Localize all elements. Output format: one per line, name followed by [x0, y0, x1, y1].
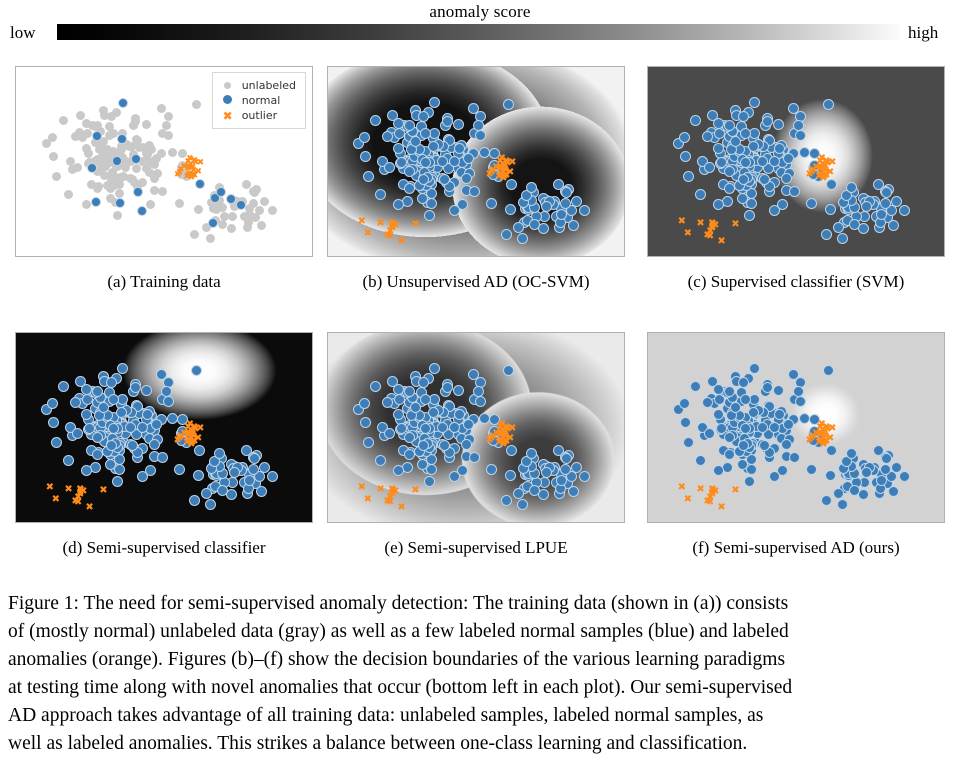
data-point: [713, 465, 724, 476]
data-point: [505, 470, 516, 481]
novel-anomaly-marker: ✖: [731, 220, 739, 230]
data-point: [722, 196, 733, 207]
outlier-marker: ✖: [186, 155, 194, 164]
unlabeled-point: [131, 117, 140, 126]
data-point: [795, 396, 806, 407]
novel-anomaly-marker: ✖: [678, 483, 686, 493]
data-point: [137, 422, 148, 433]
novel-anomaly-marker: ✖: [64, 485, 72, 495]
data-point: [789, 452, 800, 463]
unlabeled-point: [64, 190, 73, 199]
panel-e-caption: (e) Semi-supervised LPUE: [327, 538, 625, 558]
legend-label-normal: normal: [242, 94, 281, 107]
novel-anomaly-marker: ✖: [376, 219, 384, 229]
data-point: [426, 464, 437, 475]
normal-point: [133, 187, 143, 197]
data-point: [117, 363, 128, 374]
unlabeled-point: [220, 212, 229, 221]
data-point: [428, 407, 439, 418]
novel-anomaly-marker: ✖: [77, 486, 85, 496]
novel-anomaly-marker: ✖: [411, 220, 419, 230]
data-point: [738, 111, 749, 122]
data-point: [541, 201, 552, 212]
novel-anomaly-marker: ✖: [85, 503, 93, 513]
data-point: [469, 186, 480, 197]
data-point: [461, 439, 472, 450]
data-point: [783, 419, 794, 430]
unlabeled-point: [164, 112, 173, 121]
novel-anomaly-marker: ✖: [358, 217, 366, 227]
unlabeled-point: [115, 189, 124, 198]
legend-item-outlier: ✖ outlier: [220, 108, 296, 123]
data-point: [410, 402, 421, 413]
data-point: [769, 156, 780, 167]
data-point: [449, 471, 460, 482]
unlabeled-point: [52, 172, 61, 181]
data-point: [846, 448, 857, 459]
data-point: [426, 198, 437, 209]
data-point: [449, 422, 460, 433]
data-point: [716, 423, 727, 434]
data-point: [517, 233, 528, 244]
data-point: [193, 470, 204, 481]
legend-item-unlabeled: unlabeled: [220, 78, 296, 93]
unlabeled-point: [162, 121, 171, 130]
data-point: [757, 422, 768, 433]
data-point: [424, 476, 435, 487]
data-point: [106, 377, 117, 388]
data-point: [579, 471, 590, 482]
data-point: [404, 432, 415, 443]
novel-anomaly-marker: ✖: [684, 495, 692, 505]
data-point: [773, 119, 784, 130]
data-point: [695, 189, 706, 200]
unlabeled-point: [158, 187, 167, 196]
unlabeled-point: [175, 199, 184, 208]
panel-b-unsupervised-ad: ✖✖✖✖✖✖✖✖✖✖✖✖✖✖✖✖✖✖✖✖✖✖✖✖✖✖✖✖✖✖✖✖✖✖: [327, 66, 625, 257]
data-point: [370, 115, 381, 126]
data-point: [393, 199, 404, 210]
data-point: [837, 233, 848, 244]
legend-label-unlabeled: unlabeled: [242, 79, 296, 92]
data-point: [463, 153, 474, 164]
novel-anomaly-marker: ✖: [709, 220, 717, 230]
normal-point: [117, 134, 127, 144]
data-point: [746, 464, 757, 475]
data-point: [486, 464, 497, 475]
data-point: [568, 486, 579, 497]
unlabeled-point: [190, 230, 199, 239]
outlier-marker: ✖: [498, 420, 506, 430]
data-point: [724, 449, 735, 460]
normal-point: [137, 206, 147, 216]
data-point: [90, 462, 101, 473]
data-point: [806, 198, 817, 209]
outlier-marker: ✖: [818, 154, 826, 164]
data-point: [861, 201, 872, 212]
data-point: [880, 464, 891, 475]
novel-anomaly-marker: ✖: [386, 498, 394, 508]
data-point: [561, 453, 572, 464]
novel-anomaly-marker: ✖: [678, 217, 686, 227]
data-point: [360, 151, 371, 162]
data-point: [846, 182, 857, 193]
data-point: [746, 198, 757, 209]
data-point: [375, 455, 386, 466]
data-point: [799, 413, 810, 424]
unlabeled-point: [113, 211, 122, 220]
data-point: [744, 210, 755, 221]
data-point: [98, 402, 109, 413]
data-point: [384, 162, 395, 173]
data-point: [125, 422, 136, 433]
data-point: [475, 130, 486, 141]
data-point: [375, 189, 386, 200]
data-point: [453, 385, 464, 396]
panel-a-training-data: ✖✖✖✖✖✖✖✖✖✖✖✖✖✖✖✖✖✖✖✖✖ unlabeled normal ✖…: [15, 66, 313, 257]
data-point: [690, 381, 701, 392]
data-point: [724, 166, 735, 177]
data-point: [526, 182, 537, 193]
data-point: [418, 377, 429, 388]
data-point: [81, 384, 92, 395]
novel-anomaly-marker: ✖: [376, 485, 384, 495]
unlabeled-point: [249, 199, 258, 208]
data-point: [486, 198, 497, 209]
data-point: [837, 499, 848, 510]
data-point: [789, 186, 800, 197]
panel-f-semi-supervised-ad-ours: ✖✖✖✖✖✖✖✖✖✖✖✖✖✖✖✖✖✖✖✖✖✖✖✖✖✖✖✖✖✖✖✖✖✖: [647, 332, 945, 523]
normal-point: [91, 197, 101, 207]
data-point: [538, 489, 549, 500]
data-point: [560, 198, 571, 209]
data-point: [370, 381, 381, 392]
data-point: [526, 448, 537, 459]
panel-f-caption: (f) Semi-supervised AD (ours): [647, 538, 945, 558]
data-point: [501, 229, 512, 240]
data-point: [730, 136, 741, 147]
novel-anomaly-marker: ✖: [411, 486, 419, 496]
data-point: [881, 453, 892, 464]
caption-line-5: AD approach takes advantage of all train…: [8, 702, 952, 730]
outlier-marker: ✖: [818, 420, 826, 430]
data-point: [799, 147, 810, 158]
data-point: [722, 462, 733, 473]
data-point: [704, 428, 715, 439]
data-point: [783, 153, 794, 164]
data-point: [773, 385, 784, 396]
data-point: [479, 147, 490, 158]
unlabeled-point: [76, 111, 85, 120]
data-point: [823, 99, 834, 110]
data-point: [429, 363, 440, 374]
novel-anomaly-marker: ✖: [358, 483, 366, 493]
normal-point: [131, 154, 141, 164]
data-point: [112, 476, 123, 487]
data-point: [749, 97, 760, 108]
data-point: [561, 187, 572, 198]
novel-anomaly-marker: ✖: [397, 237, 405, 247]
data-point: [541, 467, 552, 478]
data-point: [888, 220, 899, 231]
unlabeled-point: [48, 133, 57, 142]
data-point: [205, 499, 216, 510]
data-point: [769, 205, 780, 216]
outlier-marker: ✖: [805, 436, 813, 446]
data-point: [359, 132, 370, 143]
data-point: [861, 467, 872, 478]
colorbar-title: anomaly score: [0, 2, 960, 22]
data-point: [428, 141, 439, 152]
data-point: [72, 428, 83, 439]
data-point: [359, 398, 370, 409]
novel-anomaly-marker: ✖: [717, 237, 725, 247]
data-point: [58, 381, 69, 392]
data-point: [404, 449, 415, 460]
unlabeled-point: [268, 206, 277, 215]
data-point: [825, 470, 836, 481]
data-point: [404, 183, 415, 194]
data-point: [229, 467, 240, 478]
panel-d-caption: (d) Semi-supervised classifier: [15, 538, 313, 558]
data-point: [410, 136, 421, 147]
figure-caption: Figure 1: The need for semi-supervised a…: [8, 590, 952, 758]
unlabeled-point: [164, 131, 173, 140]
unlabeled-point: [194, 205, 203, 214]
data-point: [683, 437, 694, 448]
data-point: [191, 365, 202, 376]
data-point: [749, 363, 760, 374]
data-point: [738, 377, 749, 388]
outlier-x-icon: ✖: [220, 109, 236, 123]
data-point: [116, 407, 127, 418]
unlabeled-point: [82, 119, 91, 128]
unlabeled-point: [83, 129, 92, 138]
figure-1: anomaly score low high ✖✖✖✖✖✖✖✖✖✖✖✖✖✖✖✖✖…: [0, 0, 960, 760]
normal-point: [236, 200, 246, 210]
data-point: [795, 130, 806, 141]
data-point: [363, 171, 374, 182]
data-point: [248, 464, 259, 475]
data-point: [695, 455, 706, 466]
data-point: [363, 437, 374, 448]
unlabeled-point: [218, 220, 227, 229]
novel-anomaly-marker: ✖: [389, 220, 397, 230]
data-point: [256, 486, 267, 497]
data-point: [517, 499, 528, 510]
data-point: [189, 495, 200, 506]
outlier-marker: ✖: [805, 170, 813, 180]
data-point: [858, 489, 869, 500]
data-point: [679, 398, 690, 409]
data-point: [418, 111, 429, 122]
data-point: [505, 204, 516, 215]
data-point: [730, 402, 741, 413]
data-point: [823, 365, 834, 376]
data-point: [821, 229, 832, 240]
legend-item-normal: normal: [220, 93, 296, 108]
data-point: [538, 223, 549, 234]
data-point: [48, 417, 59, 428]
data-point: [503, 365, 514, 376]
data-point: [442, 382, 453, 393]
data-point: [762, 382, 773, 393]
data-point: [393, 465, 404, 476]
data-point: [858, 223, 869, 234]
data-point: [475, 396, 486, 407]
unlabeled-point: [168, 148, 177, 157]
data-point: [92, 432, 103, 443]
unlabeled-point: [142, 120, 151, 129]
data-point: [92, 449, 103, 460]
unlabeled-point: [146, 200, 155, 209]
outlier-marker: ✖: [186, 420, 194, 430]
data-point: [806, 464, 817, 475]
colorbar-high-label: high: [908, 23, 938, 43]
panel-c-supervised-classifier: ✖✖✖✖✖✖✖✖✖✖✖✖✖✖✖✖✖✖✖✖✖✖✖✖✖✖✖✖✖✖✖✖✖✖: [647, 66, 945, 257]
data-point: [114, 464, 125, 475]
data-point: [724, 183, 735, 194]
unlabeled-point: [206, 234, 215, 243]
novel-anomaly-marker: ✖: [696, 485, 704, 495]
unlabeled-point: [59, 116, 68, 125]
data-point: [881, 187, 892, 198]
data-point: [899, 471, 910, 482]
data-point: [226, 489, 237, 500]
novel-anomaly-marker: ✖: [99, 486, 107, 496]
unlabeled-point: [82, 200, 91, 209]
data-point: [402, 462, 413, 473]
outlier-marker: ✖: [485, 436, 493, 446]
colorbar-low-label: low: [10, 23, 36, 43]
normal-point: [115, 198, 125, 208]
data-point: [888, 486, 899, 497]
unlabeled-point: [260, 197, 269, 206]
data-point: [781, 173, 792, 184]
caption-line-2: of (mostly normal) unlabeled data (gray)…: [8, 618, 952, 646]
data-point: [267, 471, 278, 482]
data-point: [249, 453, 260, 464]
data-point: [384, 428, 395, 439]
data-point: [713, 199, 724, 210]
data-point: [402, 196, 413, 207]
caption-line-1: Figure 1: The need for semi-supervised a…: [8, 590, 952, 618]
colorbar-gradient: [57, 24, 900, 40]
normal-point: [87, 163, 97, 173]
outlier-marker: ✖: [174, 171, 182, 180]
data-point: [503, 99, 514, 110]
outlier-marker: ✖: [485, 170, 493, 180]
data-point: [137, 471, 148, 482]
unlabeled-point: [49, 152, 58, 161]
data-point: [51, 437, 62, 448]
novel-anomaly-marker: ✖: [709, 486, 717, 496]
novel-anomaly-marker: ✖: [706, 232, 714, 242]
data-point: [769, 471, 780, 482]
data-point: [713, 384, 724, 395]
data-point: [769, 422, 780, 433]
data-point: [396, 423, 407, 434]
data-point: [141, 385, 152, 396]
legend-label-outlier: outlier: [242, 109, 277, 122]
normal-point: [118, 98, 128, 108]
novel-anomaly-marker: ✖: [717, 503, 725, 513]
data-point: [84, 423, 95, 434]
novel-anomaly-marker: ✖: [731, 486, 739, 496]
caption-line-3: anomalies (orange). Figures (b)–(f) show…: [8, 646, 952, 674]
data-point: [690, 115, 701, 126]
panel-c-caption: (c) Supervised classifier (SVM): [647, 272, 945, 292]
data-point: [463, 419, 474, 430]
normal-point: [216, 187, 226, 197]
data-point: [437, 422, 448, 433]
data-point: [81, 465, 92, 476]
colorbar: low high: [0, 22, 960, 44]
novel-anomaly-marker: ✖: [696, 219, 704, 229]
unlabeled-point: [73, 163, 82, 172]
data-point: [680, 417, 691, 428]
data-point: [762, 116, 773, 127]
data-point: [469, 452, 480, 463]
data-point: [501, 495, 512, 506]
data-point: [899, 205, 910, 216]
data-point: [442, 116, 453, 127]
data-point: [680, 151, 691, 162]
data-point: [748, 141, 759, 152]
data-point: [449, 205, 460, 216]
data-point: [560, 464, 571, 475]
novel-anomaly-marker: ✖: [52, 495, 60, 505]
data-point: [63, 455, 74, 466]
data-point: [151, 419, 162, 430]
data-point: [724, 432, 735, 443]
unlabeled-point: [152, 154, 161, 163]
data-point: [479, 413, 490, 424]
data-point: [130, 382, 141, 393]
data-point: [748, 407, 759, 418]
novel-anomaly-marker: ✖: [684, 229, 692, 239]
data-point: [360, 417, 371, 428]
data-point: [424, 210, 435, 221]
data-point: [757, 156, 768, 167]
unlabeled-point: [150, 174, 159, 183]
caption-line-4: at testing time along with novel anomali…: [8, 674, 952, 702]
outlier-marker: ✖: [173, 436, 181, 446]
normal-dot-icon: [220, 94, 236, 107]
data-point: [781, 439, 792, 450]
data-point: [683, 171, 694, 182]
data-point: [716, 157, 727, 168]
data-point: [396, 157, 407, 168]
novel-anomaly-marker: ✖: [706, 498, 714, 508]
novel-anomaly-marker: ✖: [74, 498, 82, 508]
data-point: [214, 448, 225, 459]
panel-b-caption: (b) Unsupervised AD (OC-SVM): [327, 272, 625, 292]
unlabeled-dot-icon: [220, 79, 236, 92]
data-point: [679, 132, 690, 143]
unlabeled-point: [250, 188, 259, 197]
data-point: [149, 439, 160, 450]
data-point: [880, 198, 891, 209]
data-point: [825, 204, 836, 215]
data-point: [579, 205, 590, 216]
unlabeled-point: [192, 100, 201, 109]
novel-anomaly-marker: ✖: [386, 232, 394, 242]
data-point: [393, 384, 404, 395]
caption-line-6: well as labeled anomalies. This strikes …: [8, 730, 952, 758]
data-point: [744, 476, 755, 487]
unlabeled-point: [107, 112, 116, 121]
